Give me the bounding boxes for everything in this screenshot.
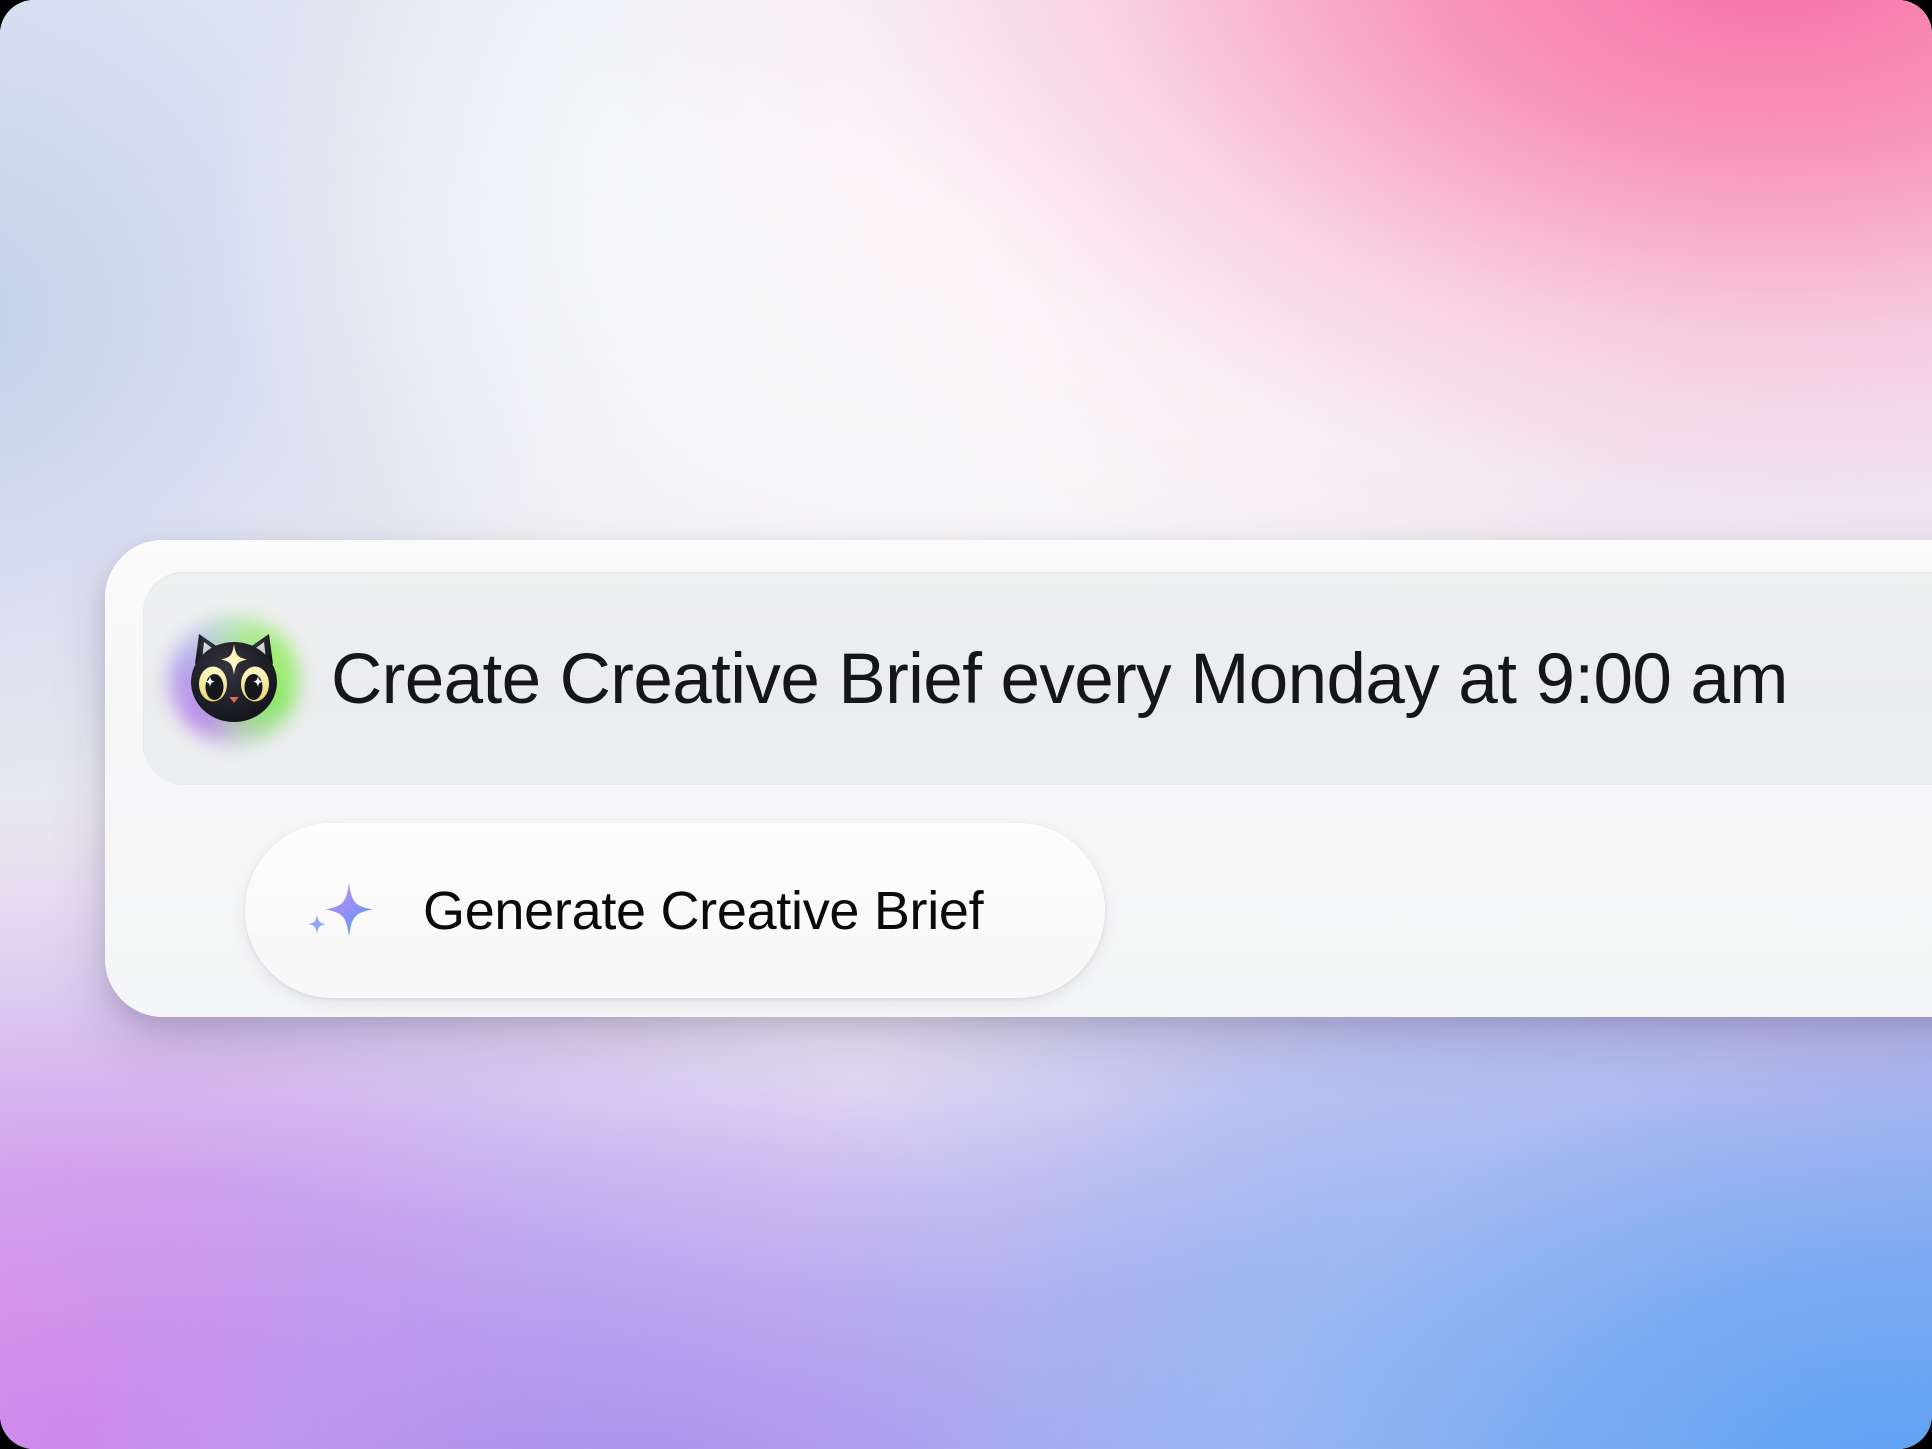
task-title: Create Creative Brief every Monday at 9:… [331, 644, 1788, 715]
task-card-header: Create Creative Brief every Monday at 9:… [143, 572, 1932, 786]
generate-button-label: Generate Creative Brief [423, 884, 983, 938]
sparkle-icon [303, 874, 377, 948]
avatar [175, 620, 293, 738]
screen: Create Creative Brief every Monday at 9:… [0, 0, 1932, 1449]
scheduled-task-card[interactable]: Create Creative Brief every Monday at 9:… [105, 540, 1932, 1017]
cat-face-icon [175, 620, 293, 738]
generate-creative-brief-button[interactable]: Generate Creative Brief [245, 823, 1105, 998]
